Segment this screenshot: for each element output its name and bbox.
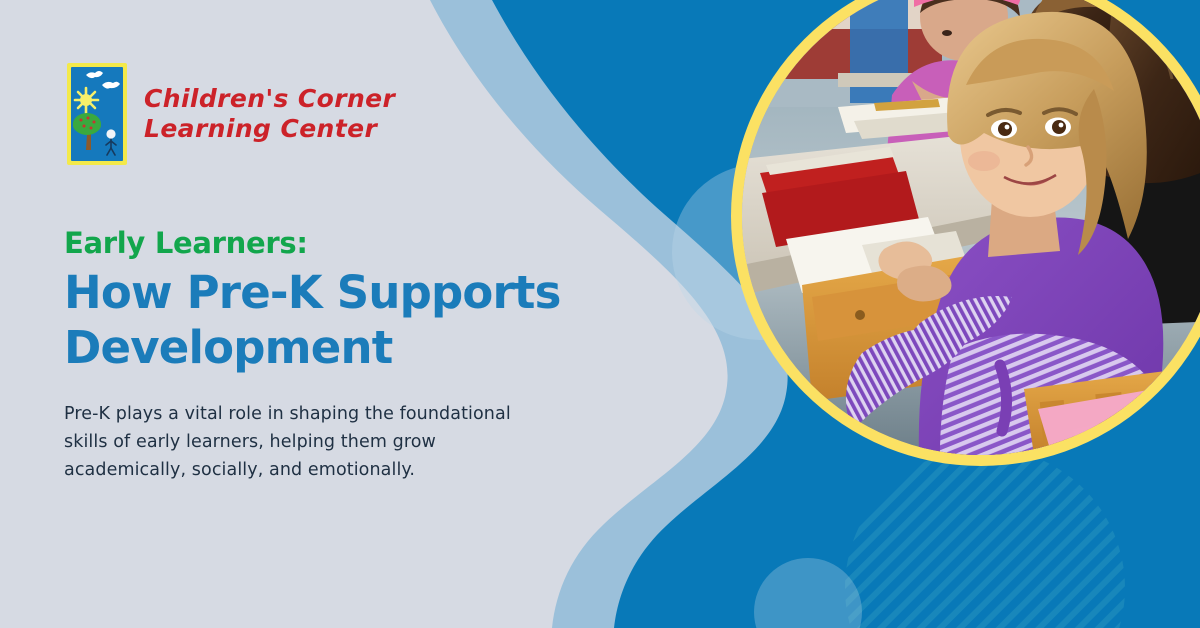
classroom-photo — [742, 0, 1200, 455]
child-head-icon — [106, 129, 115, 138]
school-scene-logo-icon — [66, 62, 128, 166]
brand-name-line2: Learning Center — [144, 114, 395, 145]
page-title: How Pre-K Supports Development — [64, 266, 604, 376]
hero-body-text: Pre-K plays a vital role in shaping the … — [64, 400, 554, 485]
hero-copy: Early Learners: How Pre-K Supports Devel… — [64, 228, 604, 485]
promo-banner: Children's Corner Learning Center Early … — [0, 0, 1200, 628]
brand-logo[interactable]: Children's Corner Learning Center — [66, 62, 395, 166]
photo-clip — [742, 0, 1200, 455]
brand-wordmark: Children's Corner Learning Center — [144, 84, 395, 145]
hero-eyebrow: Early Learners: — [64, 228, 604, 260]
photo-frame-ring — [731, 0, 1200, 466]
brand-name-line1: Children's Corner — [144, 84, 395, 115]
